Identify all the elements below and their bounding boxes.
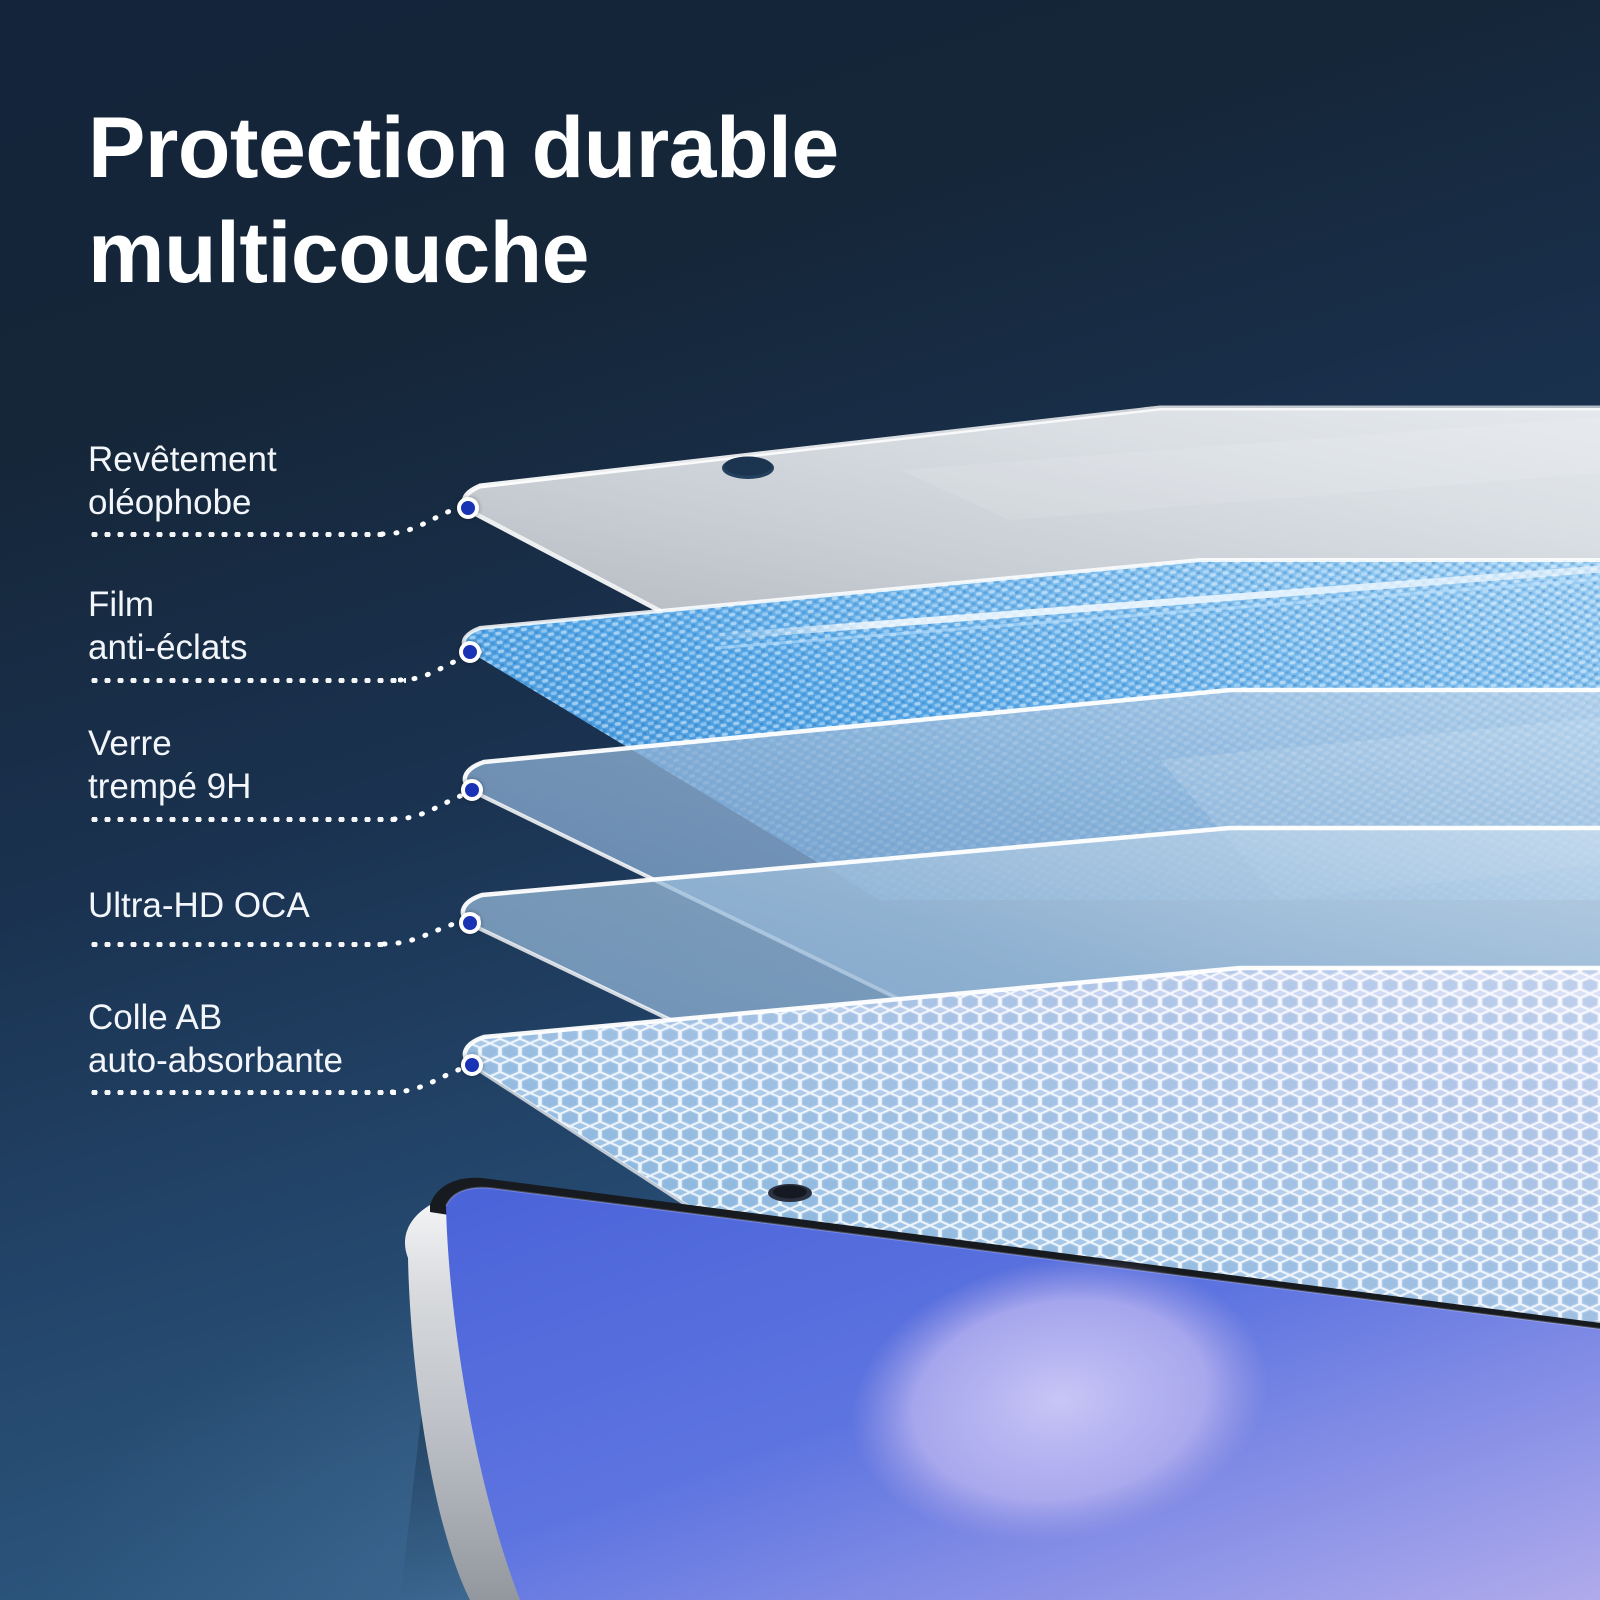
layer-label-ultra-hd-oca: Ultra-HD OCA (88, 884, 310, 927)
layer-oleophobic-coating (464, 408, 1600, 632)
layer-marker-ultra-hd-oca (459, 912, 481, 934)
leader-curve-anti-shatter-film (398, 630, 498, 700)
leader-curve-ab-glue (390, 1042, 498, 1112)
leader-line-ab-glue (88, 1090, 396, 1095)
leader-curve-oleophobic-coating (380, 486, 490, 556)
leader-curve-tempered-glass (392, 768, 498, 838)
layer-marker-anti-shatter-film (459, 641, 481, 663)
leader-line-anti-shatter-film (88, 678, 406, 683)
product-infographic: Protection durable multicouche Revêtemen… (0, 0, 1600, 1600)
floor-glow (0, 1040, 1600, 1600)
leader-line-ultra-hd-oca (88, 942, 388, 947)
layer-ab-glue-honeycomb (465, 968, 1600, 1347)
layer-label-ab-glue: Colle AB auto-absorbante (88, 996, 343, 1083)
layer-ultra-hd-oca (463, 828, 1600, 1132)
layer-marker-tempered-glass (461, 779, 483, 801)
leader-line-oleophobic-coating (88, 532, 388, 537)
layer-marker-oleophobic-coating (457, 497, 479, 519)
device-smartphone (400, 1178, 1600, 1600)
page-title: Protection durable multicouche (88, 96, 1148, 306)
layer-tempered-glass (465, 690, 1600, 1002)
leader-line-tempered-glass (88, 817, 398, 822)
right-glow (820, 520, 1600, 1280)
layer-marker-ab-glue (461, 1054, 483, 1076)
layer-label-oleophobic-coating: Revêtement oléophobe (88, 438, 277, 525)
layer-label-tempered-glass: Verre trempé 9H (88, 722, 251, 809)
layer-label-anti-shatter-film: Film anti-éclats (88, 583, 248, 670)
layer-anti-shatter-film (464, 560, 1600, 900)
